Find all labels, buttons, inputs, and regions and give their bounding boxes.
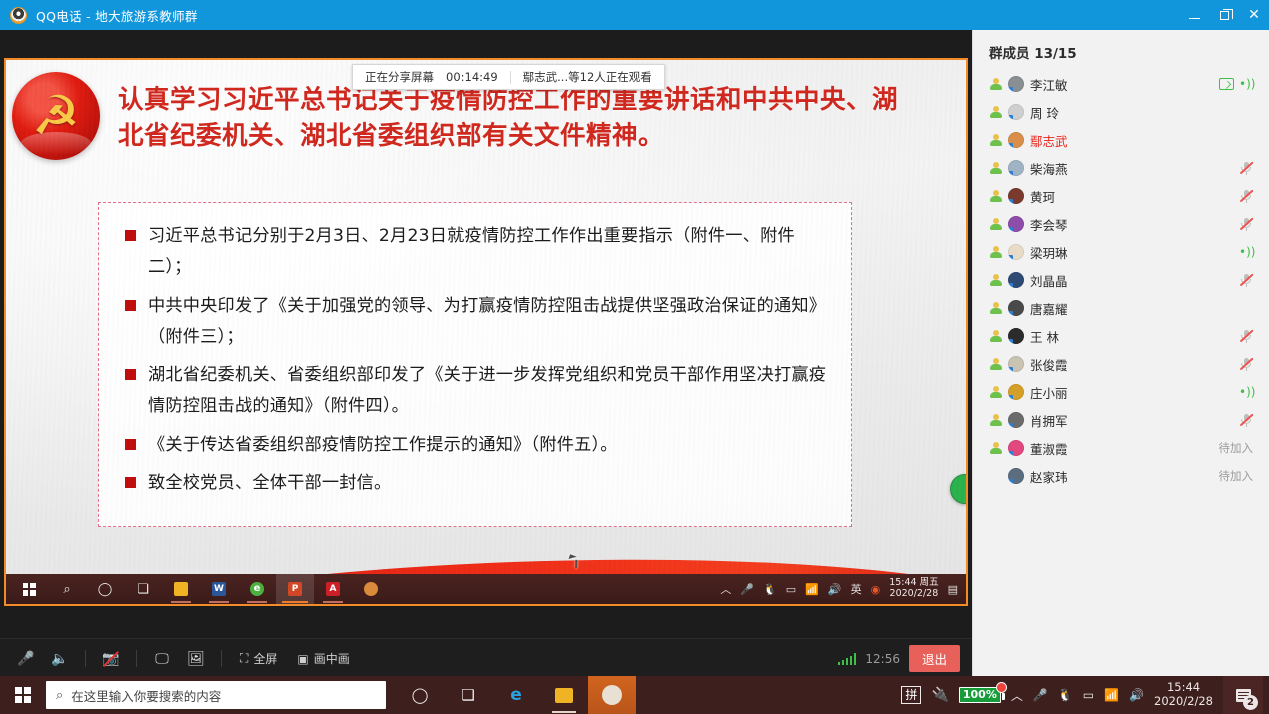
avatar xyxy=(1008,132,1024,148)
member-row[interactable]: 董淑霞待加入 xyxy=(973,434,1269,462)
microphone-icon: 🎤 xyxy=(17,651,34,667)
powerpoint-slide: ☭ 认真学习习近平总书记关于疫情防控工作的重要讲话和中共中央、湖北省纪委机关、湖… xyxy=(6,60,966,604)
battery-icon[interactable]: ▭ xyxy=(786,583,796,596)
app-name: QQ电话 xyxy=(36,9,82,24)
avatar xyxy=(1008,244,1024,260)
battery-alert-dot xyxy=(996,682,1007,693)
share-status-label: 正在分享屏幕 xyxy=(365,69,434,85)
minimize-icon xyxy=(1189,18,1200,19)
pip-button[interactable]: ▣ 画中画 xyxy=(290,650,356,667)
avatar xyxy=(1008,160,1024,176)
sogou-icon[interactable]: ◉ xyxy=(871,583,881,596)
edge-button[interactable]: e xyxy=(492,676,540,714)
party-emblem-icon: ☭ xyxy=(12,72,100,160)
fullscreen-button[interactable]: ⛶ 全屏 xyxy=(233,650,284,667)
member-name: 刘晶晶 xyxy=(1030,271,1233,290)
member-presence-icon xyxy=(989,358,1002,371)
member-presence-icon xyxy=(989,218,1002,231)
inner-qq-button[interactable] xyxy=(352,574,390,604)
member-status: •)) xyxy=(1239,385,1253,399)
screen-share-icon xyxy=(1219,78,1234,90)
member-row[interactable]: 王 林 xyxy=(973,322,1269,350)
camera-button[interactable]: 📷 xyxy=(97,645,125,673)
avatar xyxy=(1008,468,1024,484)
member-name: 鄢志武 xyxy=(1030,131,1247,150)
title-bar: QQ电话 - 地大旅游系教师群 ✕ xyxy=(0,0,1269,30)
folder-icon xyxy=(174,582,188,596)
avatar xyxy=(1008,216,1024,232)
group-name: 地大旅游系教师群 xyxy=(95,9,197,24)
member-pending-label: 待加入 xyxy=(1219,440,1254,456)
share-screen-button[interactable]: 🖵 xyxy=(148,645,176,673)
member-status xyxy=(1239,329,1253,343)
qq-penguin-icon xyxy=(10,7,27,24)
member-row[interactable]: 张俊霞 xyxy=(973,350,1269,378)
cortana-circle-icon: ◯ xyxy=(98,582,113,597)
browser-icon: e xyxy=(250,582,264,596)
inner-start-button[interactable] xyxy=(10,574,48,604)
member-row[interactable]: 肖拥军 xyxy=(973,406,1269,434)
divider xyxy=(510,71,511,84)
battery-percent: 100% xyxy=(959,687,1001,703)
word-icon: W xyxy=(212,582,226,596)
minimize-button[interactable] xyxy=(1179,0,1209,30)
signal-bars-icon xyxy=(838,653,857,665)
call-control-bar: 🎤 🔈 📷 🖵 🖼 ⛶ 全屏 ▣ 画中画 12:56 退出 xyxy=(0,638,972,678)
task-view-icon: ❏ xyxy=(461,686,474,704)
avatar xyxy=(1008,328,1024,344)
list-item: 湖北省纪委机关、省委组织部印发了《关于进一步发挥党组织和党员干部作用坚决打赢疫情… xyxy=(117,360,831,423)
member-row[interactable]: 李江敏•)) xyxy=(973,70,1269,98)
inner-word-button[interactable]: W xyxy=(200,574,238,604)
avatar xyxy=(1008,356,1024,372)
video-stage: 正在分享屏幕 00:14:49 鄢志武...等12人正在观看 ☭ 认真学习习近平… xyxy=(0,30,972,638)
share-duration: 00:14:49 xyxy=(446,70,498,84)
speaker-icon: 🔈 xyxy=(51,651,68,667)
volume-icon[interactable]: 🔊 xyxy=(1129,688,1144,702)
avatar xyxy=(1008,272,1024,288)
slide-content-box: 习近平总书记分别于2月3日、2月23日就疫情防控工作作出重要指示（附件一、附件二… xyxy=(98,202,852,527)
bullet-marker-icon xyxy=(125,300,136,311)
microphone-icon[interactable]: 🎤 xyxy=(740,583,754,596)
bullet-text: 中共中央印发了《关于加强党的领导、为打赢疫情防控阻击战提供坚强政治保证的通知》（… xyxy=(148,291,831,354)
task-view-button[interactable]: ❏ xyxy=(444,676,492,714)
windows-logo-icon xyxy=(23,583,36,596)
member-presence-icon xyxy=(989,302,1002,315)
call-duration: 12:56 xyxy=(865,652,900,666)
member-row[interactable]: 鄢志武 xyxy=(973,126,1269,154)
battery-icon[interactable]: ▭ xyxy=(1083,688,1094,702)
bullet-marker-icon xyxy=(125,439,136,450)
microphone-icon[interactable]: 🎤 xyxy=(1033,688,1048,702)
member-name: 王 林 xyxy=(1030,327,1233,346)
inner-pdf-button[interactable]: A xyxy=(314,574,352,604)
search-placeholder: 在这里输入你要搜索的内容 xyxy=(71,686,221,705)
inner-task-view-button[interactable]: ❏ xyxy=(124,574,162,604)
divider xyxy=(221,650,222,667)
ime-indicator[interactable]: 英 xyxy=(851,581,862,597)
mic-muted-icon xyxy=(1239,273,1253,287)
member-row[interactable]: 黄珂 xyxy=(973,182,1269,210)
avatar xyxy=(1008,412,1024,428)
mic-muted-icon xyxy=(1239,357,1253,371)
bullet-list: 习近平总书记分别于2月3日、2月23日就疫情防控工作作出重要指示（附件一、附件二… xyxy=(99,203,851,499)
inner-browser-button[interactable]: e xyxy=(238,574,276,604)
avatar xyxy=(1008,76,1024,92)
bullet-text: 《关于传达省委组织部疫情防控工作提示的通知》（附件五）。 xyxy=(148,430,618,461)
bullet-text: 湖北省纪委机关、省委组织部印发了《关于进一步发挥党组织和党员干部作用坚决打赢疫情… xyxy=(148,360,831,423)
search-icon: ⌕ xyxy=(63,582,70,597)
inner-cortana-button[interactable]: ◯ xyxy=(86,574,124,604)
inner-clock-date: 2020/2/28 xyxy=(889,589,938,600)
notification-center-button[interactable]: 2 xyxy=(1223,676,1263,714)
whiteboard-icon: 🖼 xyxy=(187,651,205,667)
clock-date: 2020/2/28 xyxy=(1154,695,1213,709)
power-plug-icon[interactable]: 🔌 xyxy=(931,687,948,703)
qq-avatar-icon xyxy=(602,685,622,705)
share-status-bar: 正在分享屏幕 00:14:49 鄢志武...等12人正在观看 xyxy=(352,64,665,90)
member-name: 赵家玮 xyxy=(1030,467,1213,486)
avatar xyxy=(1008,440,1024,456)
powerpoint-icon: P xyxy=(288,582,302,596)
member-status xyxy=(1239,217,1253,231)
bullet-marker-icon xyxy=(125,477,136,488)
list-item: 《关于传达省委组织部疫情防控工作提示的通知》（附件五）。 xyxy=(117,430,831,461)
member-status: 待加入 xyxy=(1219,440,1254,456)
taskbar-clock[interactable]: 15:44 2020/2/28 xyxy=(1154,681,1213,709)
wifi-icon[interactable]: 📶 xyxy=(805,583,819,596)
member-presence-icon xyxy=(989,190,1002,203)
avatar xyxy=(1008,300,1024,316)
close-icon: ✕ xyxy=(1248,8,1260,22)
picture-in-picture-icon: ▣ xyxy=(297,652,308,666)
wifi-icon[interactable]: 📶 xyxy=(1104,688,1119,702)
bullet-marker-icon xyxy=(125,230,136,241)
hammer-sickle-glyph: ☭ xyxy=(32,89,80,143)
member-status xyxy=(1239,413,1253,427)
mic-muted-icon xyxy=(1239,217,1253,231)
close-button[interactable]: ✕ xyxy=(1239,0,1269,30)
cortana-circle-icon: ◯ xyxy=(412,686,429,704)
edge-icon: e xyxy=(510,685,522,705)
qq-avatar-icon xyxy=(364,582,378,596)
callbar-right-group: 12:56 退出 xyxy=(838,645,960,672)
share-screen-icon: 🖵 xyxy=(155,651,169,667)
member-status xyxy=(1239,357,1253,371)
member-name: 柴海燕 xyxy=(1030,159,1233,178)
member-row[interactable]: 柴海燕 xyxy=(973,154,1269,182)
member-status: 待加入 xyxy=(1219,468,1254,484)
member-presence-icon xyxy=(989,386,1002,399)
task-view-icon: ❏ xyxy=(137,582,149,597)
avatar xyxy=(1008,188,1024,204)
start-button[interactable] xyxy=(0,676,46,714)
system-tray: 拼 🔌 100% ︿ 🎤 🐧 ▭ 📶 🔊 15:44 2020/2/28 2 xyxy=(901,676,1269,714)
member-name: 董淑霞 xyxy=(1030,439,1213,458)
member-name: 唐嘉耀 xyxy=(1030,299,1247,318)
sound-wave-icon: •)) xyxy=(1239,385,1253,399)
member-row[interactable]: 李会琴 xyxy=(973,210,1269,238)
chevron-up-icon[interactable]: ︿ xyxy=(720,581,731,597)
notification-count: 2 xyxy=(1243,695,1258,710)
member-presence-icon xyxy=(989,414,1002,427)
microphone-button[interactable]: 🎤 xyxy=(12,645,40,673)
restore-icon xyxy=(1220,11,1229,20)
inner-clock[interactable]: 15:44 周五 2020/2/28 xyxy=(889,578,938,600)
member-row[interactable]: 唐嘉耀 xyxy=(973,294,1269,322)
inner-file-explorer-button[interactable] xyxy=(162,574,200,604)
sound-wave-icon: •)) xyxy=(1239,77,1253,91)
member-row[interactable]: 刘晶晶 xyxy=(973,266,1269,294)
divider xyxy=(85,650,86,667)
member-row[interactable]: 梁玥琳•)) xyxy=(973,238,1269,266)
windows-logo-icon xyxy=(15,687,31,703)
window-controls: ✕ xyxy=(1179,0,1269,30)
mic-muted-icon xyxy=(1239,413,1253,427)
member-name: 黄珂 xyxy=(1030,187,1233,206)
bullet-text: 习近平总书记分别于2月3日、2月23日就疫情防控工作作出重要指示（附件一、附件二… xyxy=(148,221,831,284)
chevron-up-icon[interactable]: ︿ xyxy=(1011,687,1023,704)
member-status: •)) xyxy=(1239,245,1253,259)
member-presence-icon xyxy=(989,162,1002,175)
windows-taskbar: ⌕ 在这里输入你要搜索的内容 ◯ ❏ e 拼 🔌 100% ︿ 🎤 🐧 xyxy=(0,676,1269,714)
inner-search-button[interactable]: ⌕ xyxy=(48,574,86,604)
fullscreen-icon: ⛶ xyxy=(240,651,248,666)
notification-icon[interactable]: ▤ xyxy=(948,583,958,596)
inner-windows-taskbar: ⌕ ◯ ❏ W e P A xyxy=(6,574,966,604)
title-separator: - xyxy=(86,9,91,24)
member-panel: 群成员 13/15 李江敏•))周 玲鄢志武柴海燕黄珂李会琴梁玥琳•))刘晶晶唐… xyxy=(972,30,1269,714)
clock-time: 15:44 xyxy=(1154,681,1213,695)
qq-call-window: QQ电话 - 地大旅游系教师群 ✕ 正在分享屏幕 00:14:49 鄢志武...… xyxy=(0,0,1269,714)
member-status xyxy=(1239,161,1253,175)
avatar xyxy=(1008,384,1024,400)
member-row[interactable]: 周 玲 xyxy=(973,98,1269,126)
shared-screen-frame[interactable]: ☭ 认真学习习近平总书记关于疫情防控工作的重要讲话和中共中央、湖北省纪委机关、湖… xyxy=(4,58,968,606)
member-list: 李江敏•))周 玲鄢志武柴海燕黄珂李会琴梁玥琳•))刘晶晶唐嘉耀王 林张俊霞庄小… xyxy=(973,70,1269,490)
qq-call-taskbar-button[interactable] xyxy=(588,676,636,714)
member-count-header: 群成员 13/15 xyxy=(973,30,1269,70)
member-name: 张俊霞 xyxy=(1030,355,1233,374)
member-presence-icon xyxy=(989,246,1002,259)
member-presence-icon xyxy=(989,78,1002,91)
member-name: 梁玥琳 xyxy=(1030,243,1233,262)
file-explorer-button[interactable] xyxy=(540,676,588,714)
whiteboard-button[interactable]: 🖼 xyxy=(182,645,210,673)
speaker-button[interactable]: 🔈 xyxy=(46,645,74,673)
taskbar-app-icons: ◯ ❏ e xyxy=(396,676,636,714)
search-icon: ⌕ xyxy=(56,688,63,703)
inner-system-tray: ︿ 🎤 🐧 ▭ 📶 🔊 英 ◉ 15:44 周五 2020/2/28 ▤ xyxy=(720,578,966,600)
sound-wave-icon: •)) xyxy=(1239,245,1253,259)
inner-powerpoint-button[interactable]: P xyxy=(276,574,314,604)
slide-title: 认真学习习近平总书记关于疫情防控工作的重要讲话和中共中央、湖北省纪委机关、湖北省… xyxy=(118,82,908,154)
fullscreen-label: 全屏 xyxy=(253,650,277,667)
member-name: 李江敏 xyxy=(1030,75,1213,94)
member-name: 周 玲 xyxy=(1030,103,1247,122)
ime-indicator[interactable]: 拼 xyxy=(901,686,921,704)
battery-status[interactable]: 100% xyxy=(959,687,1001,703)
list-item: 习近平总书记分别于2月3日、2月23日就疫情防控工作作出重要指示（附件一、附件二… xyxy=(117,221,831,284)
member-status xyxy=(1239,273,1253,287)
member-presence-icon xyxy=(989,274,1002,287)
volume-icon[interactable]: 🔊 xyxy=(828,583,842,596)
member-presence-icon xyxy=(989,106,1002,119)
mic-muted-icon xyxy=(1239,189,1253,203)
member-name: 肖拥军 xyxy=(1030,411,1233,430)
mic-muted-icon xyxy=(1239,161,1253,175)
folder-icon xyxy=(555,688,573,703)
avatar xyxy=(1008,104,1024,120)
qq-penguin-icon[interactable]: 🐧 xyxy=(1058,688,1073,702)
member-pending-label: 待加入 xyxy=(1219,468,1254,484)
bullet-marker-icon xyxy=(125,369,136,380)
exit-call-button[interactable]: 退出 xyxy=(909,645,960,672)
pip-label: 画中画 xyxy=(314,650,350,667)
member-presence-icon xyxy=(989,442,1002,455)
member-status: •)) xyxy=(1219,77,1253,91)
share-viewers: 鄢志武...等12人正在观看 xyxy=(523,69,652,85)
cortana-button[interactable]: ◯ xyxy=(396,676,444,714)
divider xyxy=(136,650,137,667)
mic-muted-icon xyxy=(1239,329,1253,343)
search-input[interactable]: ⌕ 在这里输入你要搜索的内容 xyxy=(46,681,386,709)
member-presence-icon xyxy=(989,330,1002,343)
list-item: 中共中央印发了《关于加强党的领导、为打赢疫情防控阻击战提供坚强政治保证的通知》（… xyxy=(117,291,831,354)
pdf-icon: A xyxy=(326,582,340,596)
member-name: 庄小丽 xyxy=(1030,383,1233,402)
member-name: 李会琴 xyxy=(1030,215,1233,234)
member-row[interactable]: 庄小丽•)) xyxy=(973,378,1269,406)
window-title: QQ电话 - 地大旅游系教师群 xyxy=(36,6,198,25)
qq-penguin-icon[interactable]: 🐧 xyxy=(763,583,777,596)
member-row[interactable]: 赵家玮待加入 xyxy=(973,462,1269,490)
restore-button[interactable] xyxy=(1209,0,1239,30)
member-presence-icon xyxy=(989,134,1002,147)
member-status xyxy=(1239,189,1253,203)
